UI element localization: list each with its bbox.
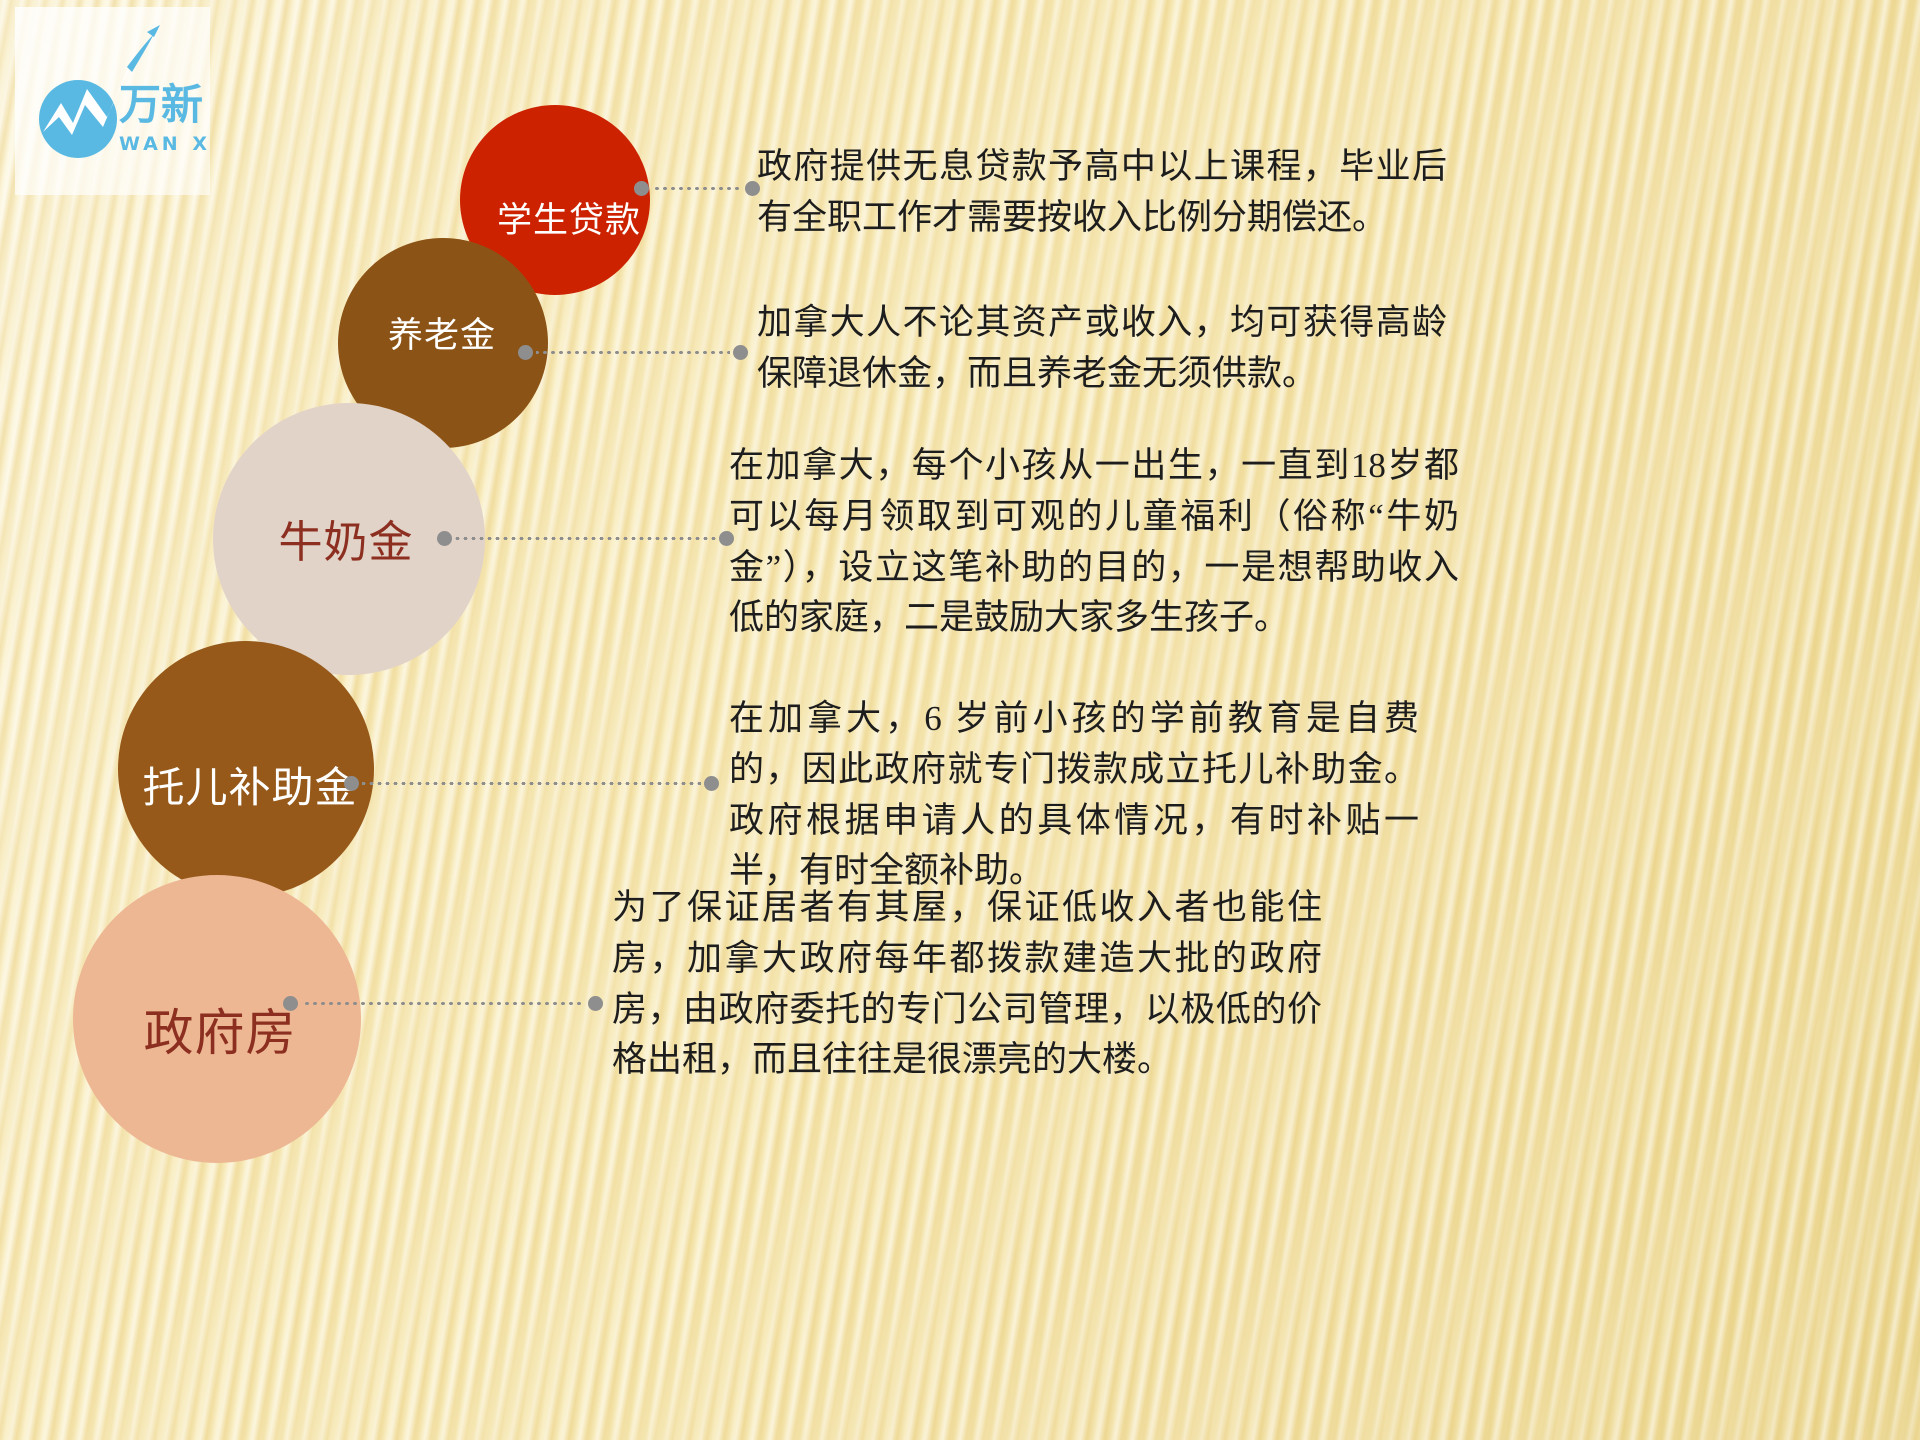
- connector-dot-end: [588, 996, 603, 1011]
- description-pension: 加拿大人不论其资产或收入，均可获得高龄保障退休金，而且养老金无须供款。: [757, 298, 1447, 400]
- connector-childcare-subsidy: [344, 776, 719, 790]
- connector-dash: [301, 1002, 585, 1005]
- connector-dash: [362, 782, 701, 785]
- description-public-housing: 为了保证居者有其屋，保证低收入者也能住房，加拿大政府每年都拨款建造大批的政府房，…: [612, 883, 1322, 1086]
- bubble-label-childcare-subsidy: 托儿补助金: [142, 754, 357, 815]
- connector-pension: [518, 345, 748, 359]
- wanxin-logo: 万新 WAN XIN: [15, 7, 210, 195]
- description-milk-money: 在加拿大，每个小孩从一出生，一直到18岁都可以每月领取到可观的儿童福利（俗称“牛…: [729, 441, 1459, 644]
- bubble-label-pension: 养老金: [388, 307, 496, 358]
- bubble-label-student-loan: 学生贷款: [497, 192, 641, 243]
- connector-dot-start: [518, 345, 533, 360]
- connector-student-loan: [634, 181, 760, 195]
- bubble-label-public-housing: 政府房: [144, 993, 297, 1065]
- description-childcare-subsidy: 在加拿大，6 岁前小孩的学前教育是自费的，因此政府就专门拨款成立托儿补助金。政府…: [729, 694, 1419, 897]
- connector-dash: [455, 537, 716, 540]
- connector-milk-money: [437, 531, 734, 545]
- connector-dot-end: [704, 776, 719, 791]
- connector-dash: [652, 187, 742, 190]
- logo-chinese-text: 万新: [119, 80, 203, 129]
- bubble-label-milk-money: 牛奶金: [279, 506, 414, 570]
- description-student-loan: 政府提供无息贷款予高中以上课程，毕业后有全职工作才需要按收入比例分期偿还。: [757, 142, 1447, 244]
- slide-canvas: 万新 WAN XIN 学生贷款 养老金 牛奶金 托儿补助金 政府房: [0, 0, 1920, 1440]
- connector-dash: [536, 351, 730, 354]
- logo-latin-text: WAN XIN: [119, 133, 210, 155]
- bubble-childcare-subsidy[interactable]: 托儿补助金: [118, 641, 374, 897]
- connector-dot-start: [437, 531, 452, 546]
- bubble-public-housing[interactable]: 政府房: [73, 875, 361, 1163]
- connector-public-housing: [283, 996, 603, 1010]
- connector-dot-end: [733, 345, 748, 360]
- connector-dot-start: [634, 181, 649, 196]
- connector-dot-start: [344, 776, 359, 791]
- wanxin-logo-mark: 万新 WAN XIN: [15, 7, 210, 195]
- logo-swoosh-icon: [127, 34, 154, 72]
- logo-arrow-icon: [147, 25, 160, 37]
- connector-dot-start: [283, 996, 298, 1011]
